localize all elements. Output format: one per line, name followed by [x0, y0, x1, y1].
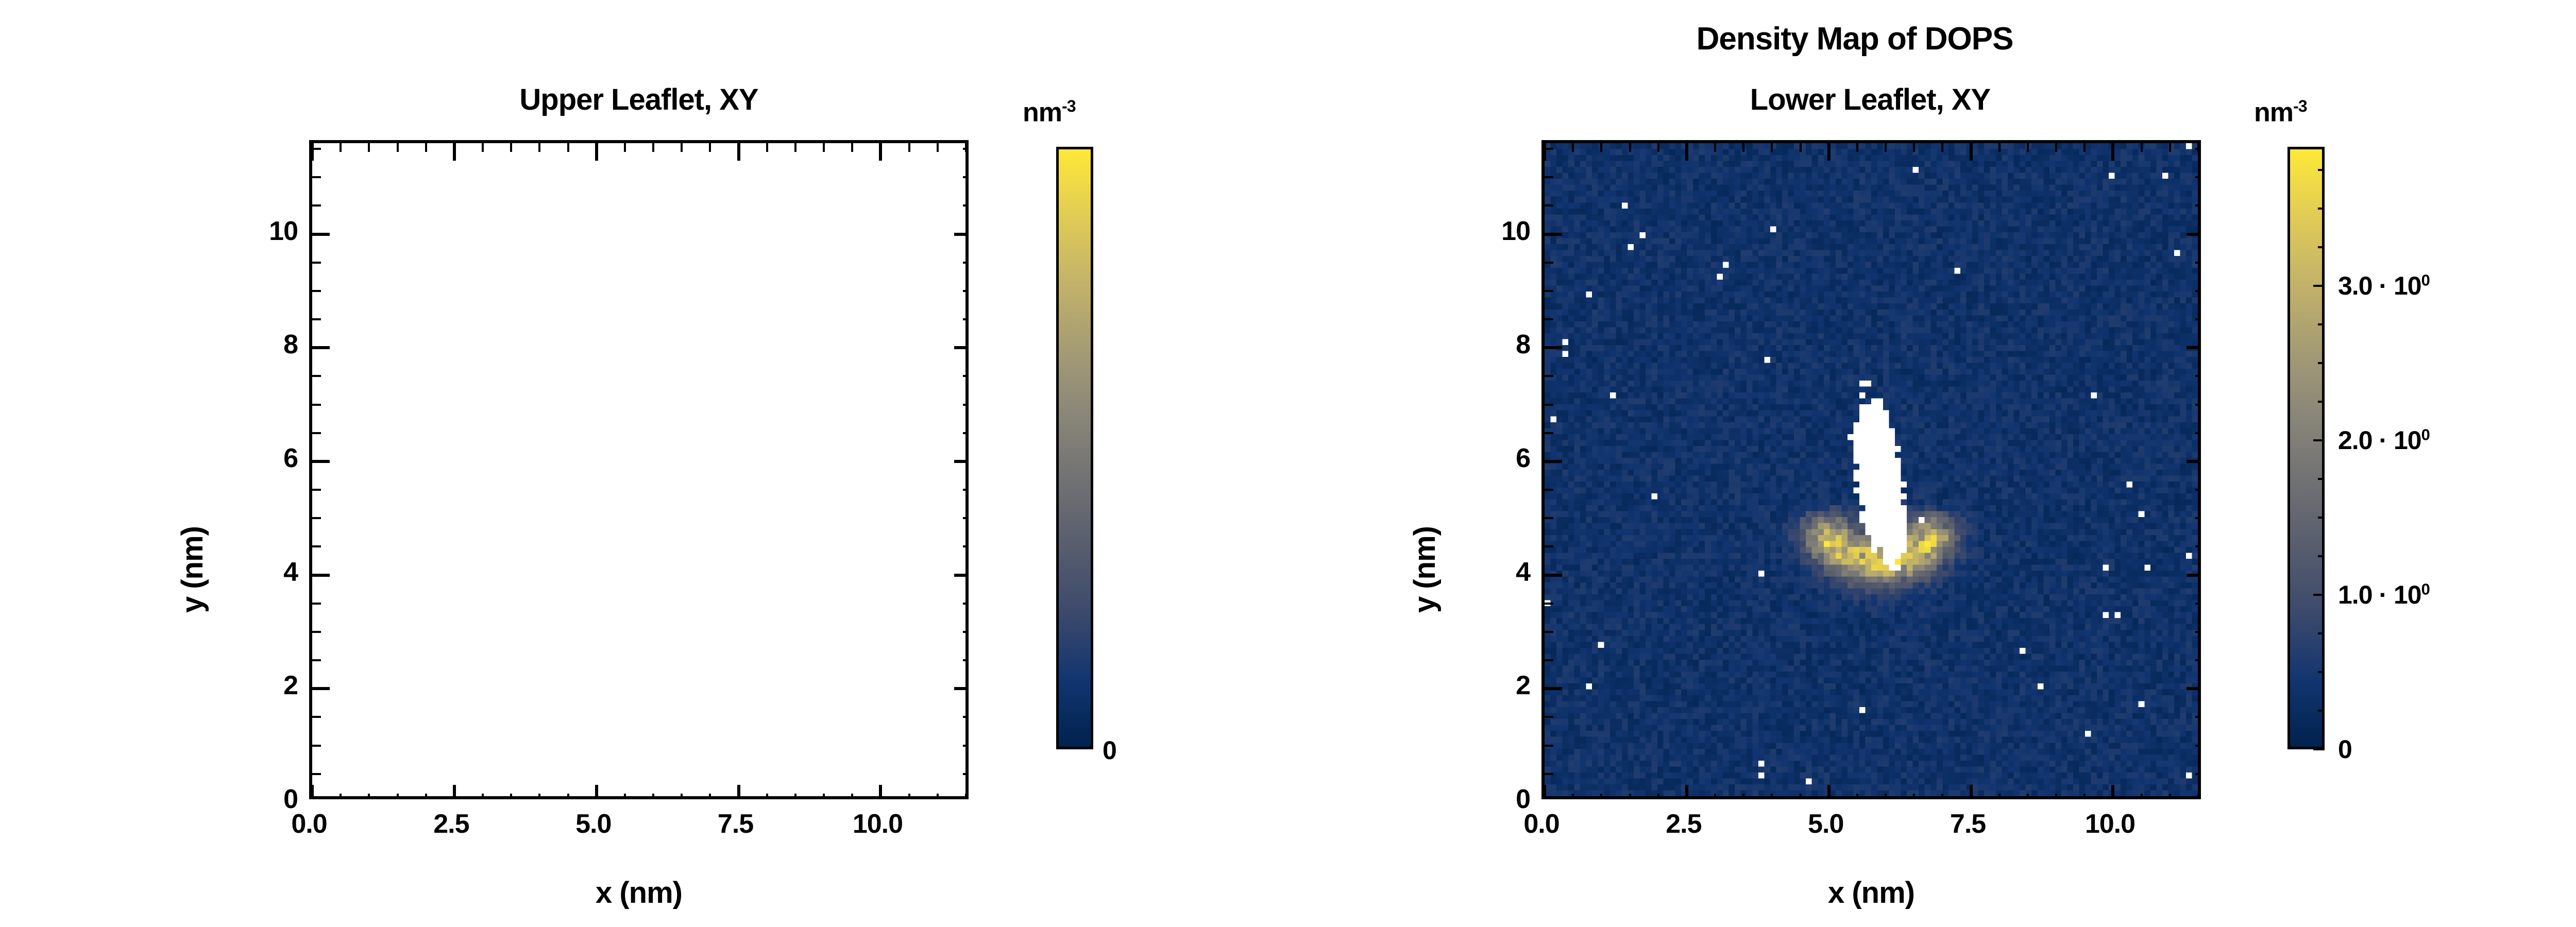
xtick-minor-top	[596, 143, 598, 152]
colorbar-tick-minor	[2318, 594, 2325, 596]
ytick-minor-left	[1545, 574, 1553, 576]
ytick-minor-right	[963, 574, 969, 576]
ytick-minor-right	[963, 262, 969, 264]
xtick-minor-top	[425, 143, 427, 152]
xtick-minor-top	[1600, 143, 1602, 152]
xtick-minor-bottom	[624, 794, 626, 799]
xtick-minor-bottom	[453, 794, 455, 799]
xtick-minor-top	[851, 143, 853, 152]
xticklabel: 5.0	[575, 809, 611, 839]
ytick-major-right	[954, 460, 969, 463]
panel-upper-leaflet-xy: Upper Leaflet, XY x (nm) y (nm) nm-3 0 0…	[0, 0, 1236, 927]
xtick-minor-top	[1686, 143, 1688, 152]
ytick-minor-right	[963, 318, 969, 320]
ytick-minor-right	[963, 659, 969, 661]
ytick-minor-right	[2195, 489, 2201, 491]
xtick-minor-top	[1771, 143, 1773, 152]
xtick-major-bottom	[1685, 785, 1688, 799]
yticklabel: 4	[283, 557, 298, 588]
ytick-minor-left	[1545, 290, 1553, 292]
yticklabel: 10	[1501, 216, 1530, 247]
colorbar-tick	[2313, 748, 2325, 750]
xtick-minor-top	[1629, 143, 1631, 152]
ytick-minor-right	[2195, 347, 2201, 349]
xtick-minor-top	[937, 143, 939, 152]
ytick-minor-left	[312, 432, 321, 434]
ytick-major-right	[2187, 233, 2201, 236]
yticklabel: 8	[1516, 329, 1530, 360]
ytick-minor-right	[2195, 688, 2201, 690]
xtick-minor-top	[1800, 143, 1802, 152]
xtick-major-bottom	[311, 785, 314, 799]
ytick-minor-left	[312, 489, 321, 491]
xtick-minor-top	[510, 143, 512, 152]
ytick-minor-left	[1545, 545, 1553, 547]
ytick-major-right	[954, 346, 969, 349]
ytick-minor-left	[312, 262, 321, 264]
ytick-minor-left	[1545, 347, 1553, 349]
ytick-minor-left	[1545, 745, 1553, 747]
xtick-minor-bottom	[2169, 794, 2171, 799]
ytick-major-right	[954, 574, 969, 577]
colorbar-tick-minor	[2318, 362, 2325, 364]
yticklabel: 6	[1516, 443, 1530, 474]
colorbar-tick-minor	[2318, 208, 2325, 210]
xtick-minor-bottom	[738, 794, 740, 799]
xtick-minor-bottom	[1800, 794, 1802, 799]
colorbar-tick-minor	[2318, 323, 2325, 325]
xtick-minor-top	[766, 143, 768, 152]
ytick-minor-right	[2195, 745, 2201, 747]
ytick-minor-right	[963, 716, 969, 718]
colorbar-tick-minor	[2318, 710, 2325, 712]
ytick-minor-left	[312, 716, 321, 718]
colorbar-unit-exponent-lower: -3	[2293, 97, 2307, 115]
xtick-minor-bottom	[2027, 794, 2029, 799]
density-map-figure: Density Map of DOPS Upper Leaflet, XY x …	[0, 0, 2576, 927]
xtick-minor-bottom	[425, 794, 427, 799]
ytick-minor-left	[1545, 233, 1553, 235]
ytick-minor-left	[312, 318, 321, 320]
xtick-minor-top	[1828, 143, 1830, 152]
ytick-minor-left	[312, 290, 321, 292]
ytick-minor-right	[963, 460, 969, 462]
ytick-minor-right	[2195, 716, 2201, 718]
ytick-minor-left	[1545, 375, 1553, 377]
yticklabel: 4	[1516, 557, 1530, 588]
xtick-major-bottom	[1970, 785, 1973, 799]
xtick-minor-top	[340, 143, 342, 152]
xtick-minor-top	[794, 143, 796, 152]
xtick-minor-top	[1913, 143, 1915, 152]
ytick-minor-right	[2195, 176, 2201, 178]
xtick-minor-bottom	[1629, 794, 1631, 799]
colorbar-unit-lower-leaflet: nm-3	[2254, 97, 2307, 128]
ytick-minor-right	[963, 176, 969, 178]
xtick-minor-top	[624, 143, 626, 152]
xtick-minor-bottom	[1828, 794, 1830, 799]
xtick-major-top	[311, 143, 314, 161]
ytick-minor-left	[312, 204, 321, 207]
ytick-minor-right	[2195, 517, 2201, 519]
xtick-minor-bottom	[652, 794, 654, 799]
xtick-major-bottom	[595, 785, 598, 799]
ytick-minor-right	[2195, 773, 2201, 775]
xtick-minor-bottom	[1771, 794, 1773, 799]
ytick-minor-left	[312, 347, 321, 349]
xtick-minor-top	[1998, 143, 2001, 152]
xtick-minor-bottom	[879, 794, 882, 799]
xtick-major-bottom	[737, 785, 740, 799]
panel-lower-leaflet-xy: Lower Leaflet, XY x (nm) y (nm) nm-3 0.0…	[1236, 0, 2473, 927]
ytick-minor-left	[312, 404, 321, 406]
xticklabel: 5.0	[1808, 809, 1843, 839]
ytick-minor-left	[1545, 460, 1553, 462]
xticklabel: 7.5	[1950, 809, 1986, 839]
ytick-minor-left	[1545, 148, 1553, 150]
ytick-minor-left	[1545, 688, 1553, 690]
ylabel-upper-leaflet: y (nm)	[175, 526, 210, 613]
xtick-minor-top	[482, 143, 484, 152]
xticklabel: 7.5	[718, 809, 753, 839]
ytick-minor-right	[2195, 574, 2201, 576]
ytick-minor-right	[963, 404, 969, 406]
xtick-minor-bottom	[681, 794, 683, 799]
colorbar-tick-minor	[2318, 169, 2325, 171]
xtick-minor-bottom	[1998, 794, 2001, 799]
ytick-minor-left	[312, 688, 321, 690]
ytick-minor-right	[2195, 233, 2201, 235]
ytick-minor-left	[312, 545, 321, 547]
colorbar-tick-minor	[2318, 555, 2325, 557]
xtick-minor-bottom	[340, 794, 342, 799]
ytick-minor-left	[1545, 603, 1553, 605]
yticklabel: 2	[1516, 670, 1530, 701]
ytick-minor-right	[2195, 603, 2201, 605]
ytick-major-right	[2187, 346, 2201, 349]
xtick-minor-top	[1572, 143, 1574, 152]
ytick-minor-right	[2195, 262, 2201, 264]
colorbar-tick-minor	[2318, 671, 2325, 673]
ytick-minor-left	[312, 176, 321, 178]
ytick-minor-left	[1545, 659, 1553, 661]
xtick-minor-bottom	[709, 794, 711, 799]
ytick-minor-right	[2195, 432, 2201, 434]
xtick-minor-bottom	[538, 794, 540, 799]
ytick-major-right	[2187, 460, 2201, 463]
panel-title-lower-leaflet: Lower Leaflet, XY	[1510, 82, 2231, 117]
plot-area-upper-leaflet[interactable]	[309, 140, 969, 799]
xtick-minor-top	[709, 143, 711, 152]
panel-title-upper-leaflet: Upper Leaflet, XY	[278, 82, 999, 117]
heatmap-canvas-upper-leaflet	[312, 143, 965, 796]
ytick-minor-right	[963, 432, 969, 434]
ytick-minor-right	[963, 204, 969, 207]
ytick-minor-left	[1545, 716, 1553, 718]
plot-area-lower-leaflet[interactable]	[1541, 140, 2201, 799]
yticklabel: 8	[283, 329, 298, 360]
xtick-minor-bottom	[2083, 794, 2086, 799]
xlabel-upper-leaflet: x (nm)	[309, 875, 969, 910]
xtick-minor-top	[2169, 143, 2171, 152]
ytick-minor-right	[963, 148, 969, 150]
colorbar-upper-leaflet[interactable]	[1056, 147, 1093, 749]
xtick-minor-bottom	[510, 794, 512, 799]
xtick-minor-top	[2027, 143, 2029, 152]
xtick-minor-bottom	[1572, 794, 1574, 799]
colorbar-tick-minor	[2318, 517, 2325, 519]
yticklabel: 2	[283, 670, 298, 701]
panel-transversal-view-yz: Transversal View, YZ y (nm) z (nm) nm-3 …	[2473, 0, 2576, 927]
ytick-minor-left	[1545, 404, 1553, 406]
ytick-minor-left	[1545, 176, 1553, 178]
ytick-minor-left	[1545, 262, 1553, 264]
colorbar-ticklabel: 2.0 · 100	[2338, 425, 2430, 455]
xtick-minor-bottom	[1600, 794, 1602, 799]
heatmap-canvas-lower-leaflet	[1545, 143, 2198, 796]
xtick-major-bottom	[2111, 785, 2114, 799]
yticklabel: 0	[1516, 784, 1530, 815]
ytick-minor-left	[312, 148, 321, 150]
xticklabel: 2.5	[433, 809, 469, 839]
ytick-minor-left	[312, 631, 321, 633]
ytick-minor-right	[963, 489, 969, 491]
xtick-minor-bottom	[368, 794, 370, 799]
ytick-minor-right	[2195, 375, 2201, 377]
xtick-minor-bottom	[596, 794, 598, 799]
xtick-minor-bottom	[1686, 794, 1688, 799]
xtick-minor-bottom	[1970, 794, 1972, 799]
xtick-major-bottom	[1827, 785, 1831, 799]
ytick-minor-left	[312, 233, 321, 235]
xtick-minor-top	[1657, 143, 1659, 152]
colorbar-lower-leaflet[interactable]	[2287, 147, 2325, 749]
xtick-minor-bottom	[482, 794, 484, 799]
ytick-minor-right	[2195, 460, 2201, 462]
ytick-minor-right	[963, 745, 969, 747]
ytick-minor-left	[312, 574, 321, 576]
ytick-minor-right	[963, 603, 969, 605]
ytick-minor-left	[312, 659, 321, 661]
ytick-minor-left	[1545, 631, 1553, 633]
ytick-minor-right	[963, 773, 969, 775]
ytick-minor-right	[963, 631, 969, 633]
xtick-minor-bottom	[823, 794, 825, 799]
xtick-minor-bottom	[908, 794, 910, 799]
xtick-minor-top	[1941, 143, 1943, 152]
ytick-minor-right	[2195, 318, 2201, 320]
ytick-minor-left	[312, 517, 321, 519]
xtick-major-bottom	[453, 785, 456, 799]
ytick-major-right	[2187, 574, 2201, 577]
ytick-minor-right	[963, 347, 969, 349]
ytick-minor-left	[312, 745, 321, 747]
ytick-minor-right	[2195, 659, 2201, 661]
ytick-minor-left	[1545, 432, 1553, 434]
ytick-minor-right	[963, 290, 969, 292]
colorbar-ticklabel-upper-0: 0	[1103, 735, 1116, 765]
ytick-minor-left	[312, 460, 321, 462]
ytick-minor-left	[312, 773, 321, 775]
xtick-minor-top	[453, 143, 455, 152]
ytick-minor-right	[2195, 404, 2201, 406]
ytick-minor-left	[312, 375, 321, 377]
xtick-minor-top	[1970, 143, 1972, 152]
xtick-minor-bottom	[2112, 794, 2114, 799]
ytick-minor-right	[963, 688, 969, 690]
xtick-minor-top	[823, 143, 825, 152]
yticklabel: 10	[269, 216, 298, 247]
xtick-minor-top	[738, 143, 740, 152]
ytick-major-right	[954, 233, 969, 236]
ytick-minor-right	[2195, 204, 2201, 207]
ytick-minor-right	[963, 517, 969, 519]
colorbar-ticklabel: 1.0 · 100	[2338, 580, 2430, 610]
xtick-minor-top	[1885, 143, 1887, 152]
ytick-minor-right	[2195, 290, 2201, 292]
ytick-minor-right	[963, 233, 969, 235]
xticklabel: 2.5	[1666, 809, 1701, 839]
ytick-minor-left	[1545, 773, 1553, 775]
xtick-major-bottom	[1543, 785, 1546, 799]
colorbar-tick-minor	[2318, 439, 2325, 441]
ytick-minor-right	[2195, 631, 2201, 633]
xtick-minor-top	[2141, 143, 2143, 152]
xtick-minor-bottom	[1885, 794, 1887, 799]
xtick-minor-bottom	[794, 794, 796, 799]
xtick-major-bottom	[879, 785, 882, 799]
ytick-minor-right	[2195, 545, 2201, 547]
xtick-minor-top	[1714, 143, 1716, 152]
yticklabel: 6	[283, 443, 298, 474]
xtick-minor-top	[2055, 143, 2057, 152]
xtick-minor-top	[1856, 143, 1858, 152]
ytick-major-right	[954, 687, 969, 690]
xtick-minor-top	[2112, 143, 2114, 152]
ytick-minor-right	[963, 375, 969, 377]
xtick-minor-top	[879, 143, 882, 152]
ytick-minor-left	[1545, 517, 1553, 519]
xtick-minor-top	[397, 143, 399, 152]
ytick-major-right	[2187, 687, 2201, 690]
xtick-minor-top	[652, 143, 654, 152]
colorbar-ticklabel: 3.0 · 100	[2338, 271, 2430, 301]
xtick-minor-top	[567, 143, 569, 152]
xtick-minor-top	[368, 143, 370, 152]
xtick-minor-bottom	[1913, 794, 1915, 799]
colorbar-ticklabel: 0	[2338, 734, 2352, 764]
xtick-minor-bottom	[2197, 794, 2199, 799]
xtick-minor-bottom	[397, 794, 399, 799]
yticklabel: 0	[283, 784, 298, 815]
ytick-minor-left	[1545, 204, 1553, 207]
xtick-minor-top	[681, 143, 683, 152]
xtick-major-top	[1543, 143, 1546, 161]
xtick-minor-bottom	[851, 794, 853, 799]
colorbar-tick-minor	[2318, 246, 2325, 248]
xtick-minor-bottom	[766, 794, 768, 799]
xtick-minor-bottom	[2055, 794, 2057, 799]
ylabel-lower-leaflet: y (nm)	[1408, 526, 1442, 613]
xtick-minor-bottom	[937, 794, 939, 799]
xtick-minor-bottom	[1657, 794, 1659, 799]
xtick-minor-bottom	[1941, 794, 1943, 799]
xtick-minor-top	[908, 143, 910, 152]
xtick-minor-bottom	[1856, 794, 1858, 799]
colorbar-unit-exponent-upper: -3	[1062, 97, 1076, 115]
ytick-minor-right	[963, 545, 969, 547]
xtick-minor-bottom	[1742, 794, 1744, 799]
xtick-minor-top	[2083, 143, 2086, 152]
colorbar-tick-minor	[2318, 632, 2325, 634]
colorbar-tick-minor	[2318, 401, 2325, 403]
xtick-minor-bottom	[965, 794, 967, 799]
xticklabel: 10.0	[853, 809, 903, 839]
ytick-minor-left	[1545, 318, 1553, 320]
xtick-minor-top	[1742, 143, 1744, 152]
xtick-minor-bottom	[567, 794, 569, 799]
ytick-minor-right	[2195, 148, 2201, 150]
colorbar-tick-minor	[2318, 285, 2325, 287]
xtick-minor-top	[538, 143, 540, 152]
xtick-minor-bottom	[2141, 794, 2143, 799]
colorbar-tick-minor	[2318, 478, 2325, 480]
colorbar-unit-upper-leaflet: nm-3	[1023, 97, 1076, 128]
xtick-minor-bottom	[1714, 794, 1716, 799]
xticklabel: 10.0	[2085, 809, 2135, 839]
ytick-minor-left	[1545, 489, 1553, 491]
ytick-minor-left	[312, 603, 321, 605]
xlabel-lower-leaflet: x (nm)	[1541, 875, 2201, 910]
